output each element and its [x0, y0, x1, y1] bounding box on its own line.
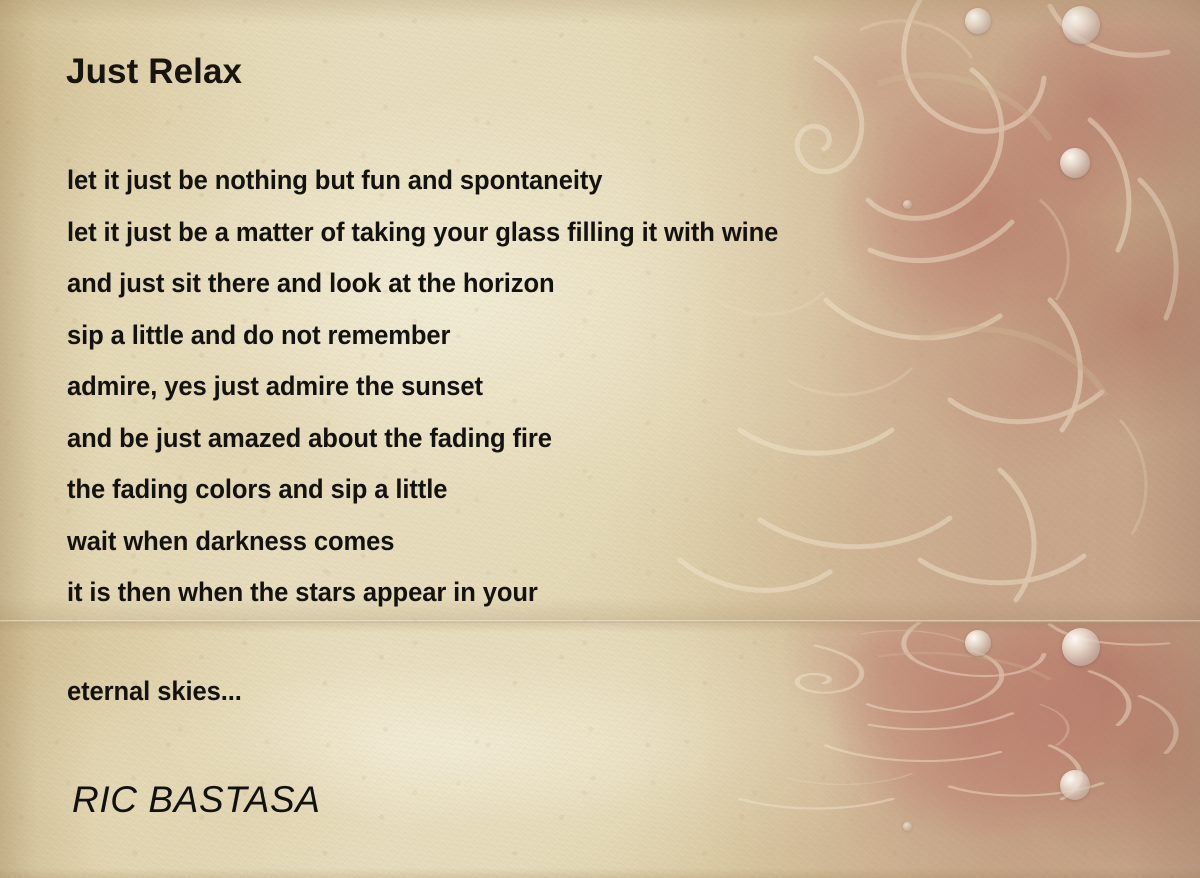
poem-title: Just Relax	[66, 52, 242, 92]
poem-line: sip a little and do not remember	[67, 310, 1032, 362]
poem-line: and be just amazed about the fading fire	[67, 413, 1032, 465]
poem-line: the fading colors and sip a little	[67, 464, 1032, 516]
poem-card: Just Relax let it just be nothing but fu…	[0, 0, 1200, 878]
poem-line: wait when darkness comes	[67, 516, 1032, 568]
poem-closing-line: eternal skies...	[67, 676, 242, 707]
poem-text-layer: Just Relax let it just be nothing but fu…	[0, 0, 1200, 878]
poem-author-signature: RIC BASTASA	[72, 779, 321, 821]
poem-body: let it just be nothing but fun and spont…	[67, 155, 1067, 619]
poem-line: let it just be nothing but fun and spont…	[67, 155, 1032, 207]
poem-line: it is then when the stars appear in your	[67, 567, 1032, 619]
poem-line: let it just be a matter of taking your g…	[67, 207, 1032, 259]
poem-line: admire, yes just admire the sunset	[67, 361, 1032, 413]
poem-line: and just sit there and look at the horiz…	[67, 258, 1032, 310]
